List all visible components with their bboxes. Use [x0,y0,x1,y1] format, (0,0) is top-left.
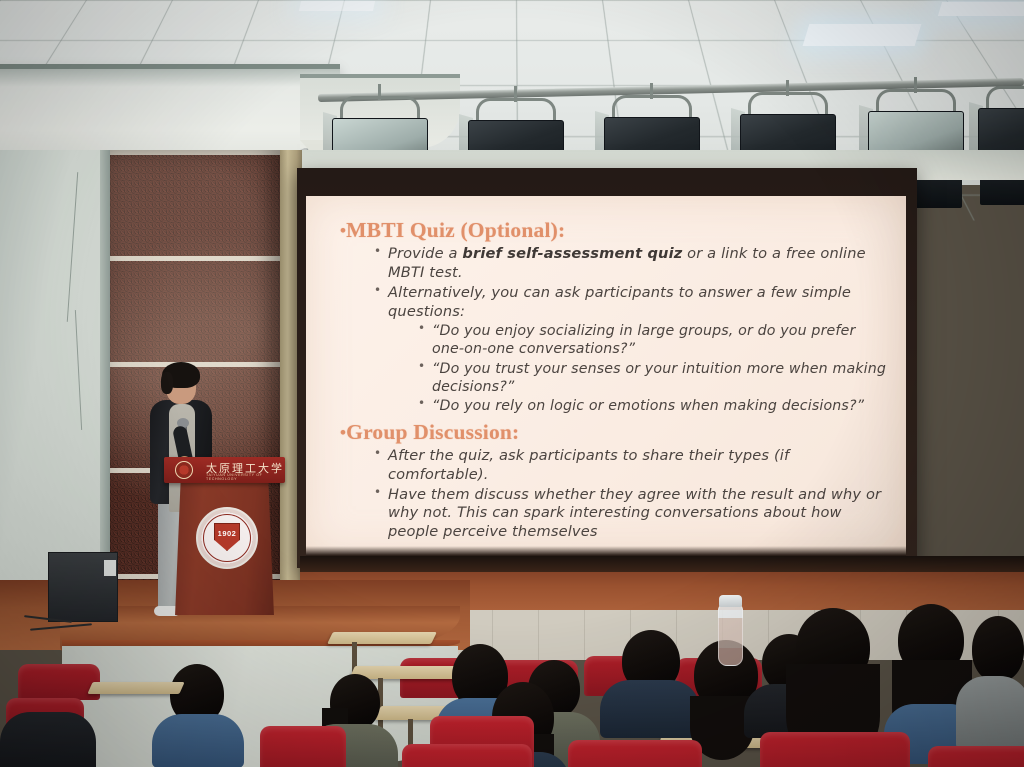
list-item: “Do you rely on logic or emotions when m… [418,397,888,415]
audience-shoulders [152,714,244,767]
slide-bullet-list-2: After the quiz, ask participants to shar… [374,447,888,543]
bottle-cap [719,595,742,607]
ceiling-panel-light [938,2,1024,16]
list-item: Alternatively, you can ask participants … [374,284,888,416]
audience-shoulders [956,676,1024,750]
slide-bullet-list-1: Provide a brief self-assessment quiz or … [374,245,888,416]
lecture-hall-photo: •MBTI Quiz (Optional): Provide a brief s… [0,0,1024,767]
desk [87,682,184,694]
list-item: After the quiz, ask participants to shar… [374,447,888,485]
audience-area [0,556,1024,767]
seat [760,732,910,767]
slide-heading-2-text: Group Discussion: [346,420,519,444]
crest-year: 1902 [198,529,256,538]
projection-screen[interactable]: •MBTI Quiz (Optional): Provide a brief s… [306,196,906,556]
audience-shoulders [0,712,96,767]
audience-head [972,616,1024,682]
bold-phrase: brief self-assessment quiz [462,245,682,262]
podium-name-en: TAIYUAN UNIVERSITY OF TECHNOLOGY [206,473,285,481]
slide-heading-1: •MBTI Quiz (Optional): [340,218,888,243]
podium-nameplate: 太原理工大学 TAIYUAN UNIVERSITY OF TECHNOLOGY [164,457,285,483]
list-item: “Do you trust your senses or your intuit… [418,360,888,397]
list-item: “Do you enjoy socializing in large group… [418,322,888,359]
slide-heading-2: •Group Discussion: [340,420,888,445]
slide-sub-bullet-list: “Do you enjoy socializing in large group… [418,322,888,416]
ceiling-panel-light [299,1,375,11]
presenter-hair-side [161,372,173,394]
ceiling-panel-light [803,24,922,46]
university-seal-icon [175,461,193,479]
slide-heading-1-text: MBTI Quiz (Optional): [346,218,565,242]
list-item: Provide a brief self-assessment quiz or … [374,245,888,283]
seat [568,740,702,767]
desk [327,632,437,644]
seat [18,664,100,700]
audience-shoulders [600,680,700,738]
seat [928,746,1024,767]
wall-corner-edge [100,150,110,580]
left-wall [0,150,106,580]
water-bottle [718,604,743,666]
seat [402,744,532,767]
list-item: Have them discuss whether they agree wit… [374,486,888,543]
slide-content: •MBTI Quiz (Optional): Provide a brief s… [306,196,906,542]
seat [260,726,346,767]
